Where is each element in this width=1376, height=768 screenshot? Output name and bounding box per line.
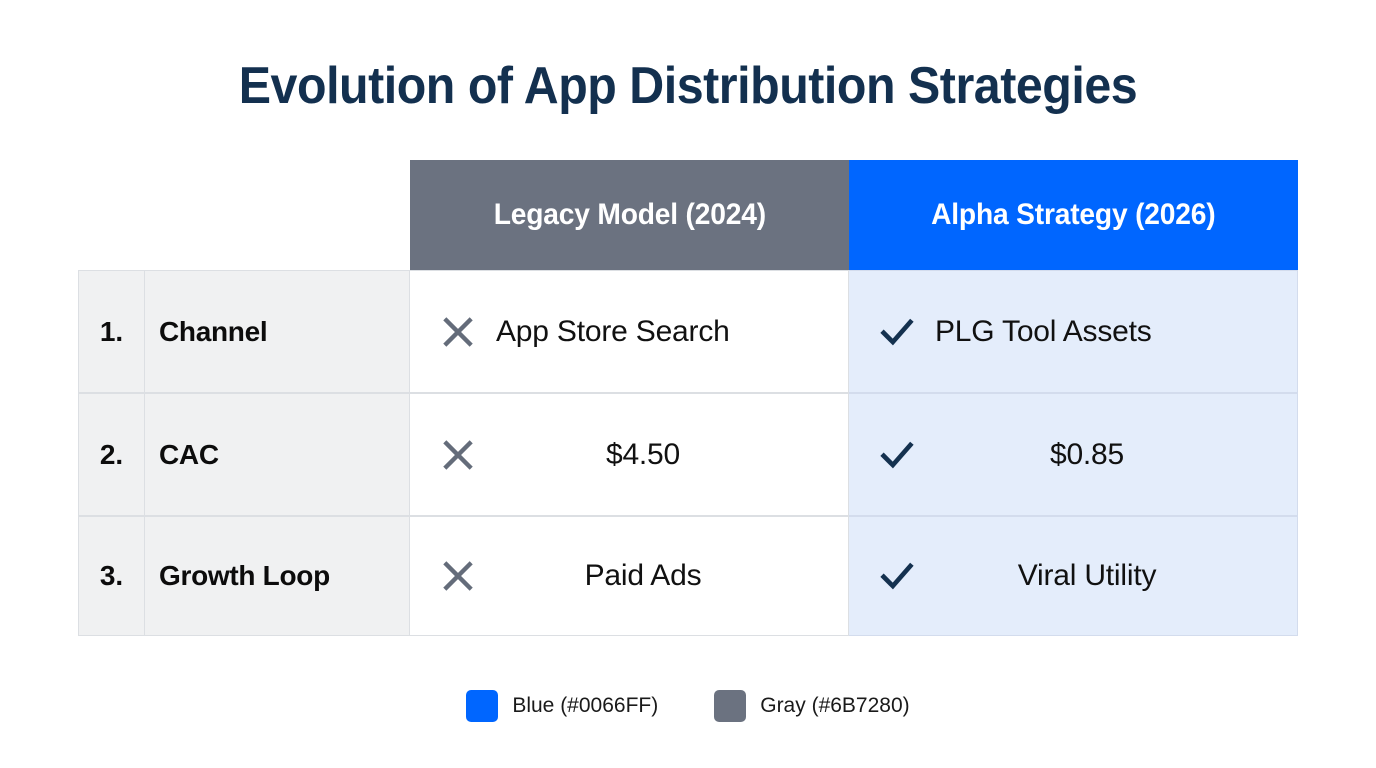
- legend-item-gray: Gray (#6B7280): [714, 690, 909, 722]
- row-index: 1.: [78, 270, 145, 393]
- cross-icon: [438, 435, 478, 475]
- legend-label-blue: Blue (#0066FF): [512, 694, 658, 718]
- row-legacy-cell: $4.50: [410, 393, 849, 516]
- row-alpha-cell: PLG Tool Assets: [849, 270, 1298, 393]
- table-row: 3. Growth Loop Paid Ads Viral Utility: [78, 516, 1298, 636]
- row-legacy-cell: App Store Search: [410, 270, 849, 393]
- check-icon: [877, 312, 917, 352]
- header-label-alpha: Alpha Strategy (2026): [931, 198, 1215, 232]
- legend-label-gray: Gray (#6B7280): [760, 694, 909, 718]
- legend-item-blue: Blue (#0066FF): [466, 690, 658, 722]
- row-legacy-cell: Paid Ads: [410, 516, 849, 636]
- row-legacy-value: App Store Search: [496, 315, 730, 349]
- row-metric-label: CAC: [145, 393, 410, 516]
- table-header-row: Legacy Model (2024) Alpha Strategy (2026…: [78, 160, 1298, 270]
- row-legacy-value: Paid Ads: [478, 559, 848, 593]
- header-blank-index: [78, 160, 145, 270]
- page-title: Evolution of App Distribution Strategies: [48, 58, 1328, 115]
- header-cell-legacy: Legacy Model (2024): [410, 160, 849, 270]
- header-cell-alpha: Alpha Strategy (2026): [849, 160, 1298, 270]
- legend-swatch-gray: [714, 690, 746, 722]
- row-index: 3.: [78, 516, 145, 636]
- cross-icon: [438, 312, 478, 352]
- row-metric-label: Channel: [145, 270, 410, 393]
- table-row: 1. Channel App Store Search PLG Tool Ass…: [78, 270, 1298, 393]
- row-metric-label: Growth Loop: [145, 516, 410, 636]
- row-alpha-cell: $0.85: [849, 393, 1298, 516]
- row-legacy-value: $4.50: [478, 438, 848, 472]
- row-alpha-value: PLG Tool Assets: [935, 315, 1152, 349]
- table-row: 2. CAC $4.50 $0.85: [78, 393, 1298, 516]
- header-label-legacy: Legacy Model (2024): [493, 198, 765, 232]
- row-alpha-cell: Viral Utility: [849, 516, 1298, 636]
- row-index: 2.: [78, 393, 145, 516]
- legend-swatch-blue: [466, 690, 498, 722]
- color-legend: Blue (#0066FF) Gray (#6B7280): [0, 690, 1376, 722]
- comparison-table: Legacy Model (2024) Alpha Strategy (2026…: [78, 160, 1298, 638]
- check-icon: [877, 556, 917, 596]
- cross-icon: [438, 556, 478, 596]
- check-icon: [877, 435, 917, 475]
- header-blank-metric: [145, 160, 410, 270]
- row-alpha-value: $0.85: [917, 438, 1297, 472]
- row-alpha-value: Viral Utility: [917, 559, 1297, 593]
